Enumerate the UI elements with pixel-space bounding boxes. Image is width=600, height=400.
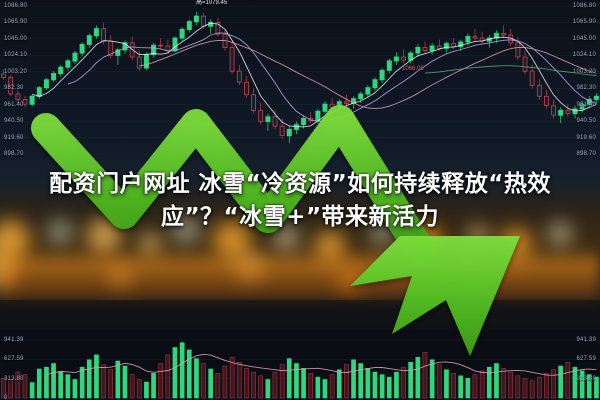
headline-line-1: 配资门户网址 冰雪“冷资源”如何持续释放“热效: [49, 171, 551, 197]
screenshot-stage: 1086.801086.801065.901065.901045.001045.…: [0, 0, 600, 400]
price-tick-label: 1065.90: [4, 19, 27, 25]
price-tick-label: 940.50: [4, 118, 24, 124]
price-tick-label: 1003.20: [573, 69, 596, 75]
volume-panel: 941.39941.39627.59627.59313.80313.8000: [0, 330, 600, 400]
price-tick-label: 919.60: [4, 135, 24, 141]
volume-tick-label: 313.80: [4, 376, 24, 382]
volume-tick-label: 0: [4, 395, 8, 400]
price-tick-label: 961.40: [4, 102, 24, 108]
price-axis-labels: 1086.801086.801065.901065.901045.001045.…: [0, 0, 600, 160]
volume-tick-label: 313.80: [576, 376, 596, 382]
price-panel: 1086.801086.801065.901065.901045.001045.…: [0, 0, 600, 160]
price-tick-label: 940.50: [576, 118, 596, 124]
volume-axis-labels: 941.39941.39627.59627.59313.80313.8000: [0, 330, 600, 400]
price-tick-label: 1045.00: [573, 36, 596, 42]
volume-tick-label: 627.59: [576, 356, 596, 362]
price-tick-label: 898.70: [576, 151, 596, 157]
price-tick-label: 1024.10: [4, 52, 27, 58]
volume-tick-label: 627.59: [4, 356, 24, 362]
annotation-high: 高=1079.45: [196, 0, 227, 6]
price-tick-label: 1003.20: [4, 69, 27, 75]
price-tick-label: 919.60: [576, 135, 596, 141]
price-tick-label: 1045.00: [4, 36, 27, 42]
price-tick-label: 1024.10: [573, 52, 596, 58]
price-tick-label: 1086.80: [4, 3, 27, 9]
price-tick-label: 982.30: [4, 85, 24, 91]
price-tick-label: 898.70: [4, 151, 24, 157]
volume-tick-label: 941.39: [4, 337, 24, 343]
price-tick-label: 982.30: [576, 85, 596, 91]
headline-line-2: 应”？“冰雪+”带来新活力: [0, 201, 600, 234]
annotation-low: 912.29: [308, 142, 326, 148]
price-tick-label: 1065.90: [573, 19, 596, 25]
page-title: 配资门户网址 冰雪“冷资源”如何持续释放“热效 应”？“冰雪+”带来新活力: [0, 168, 600, 233]
annotation-mid: 1066.05: [402, 66, 424, 72]
price-tick-label: 1086.80: [573, 3, 596, 9]
volume-tick-label: 941.39: [576, 337, 596, 343]
price-tick-label: 961.40: [576, 102, 596, 108]
